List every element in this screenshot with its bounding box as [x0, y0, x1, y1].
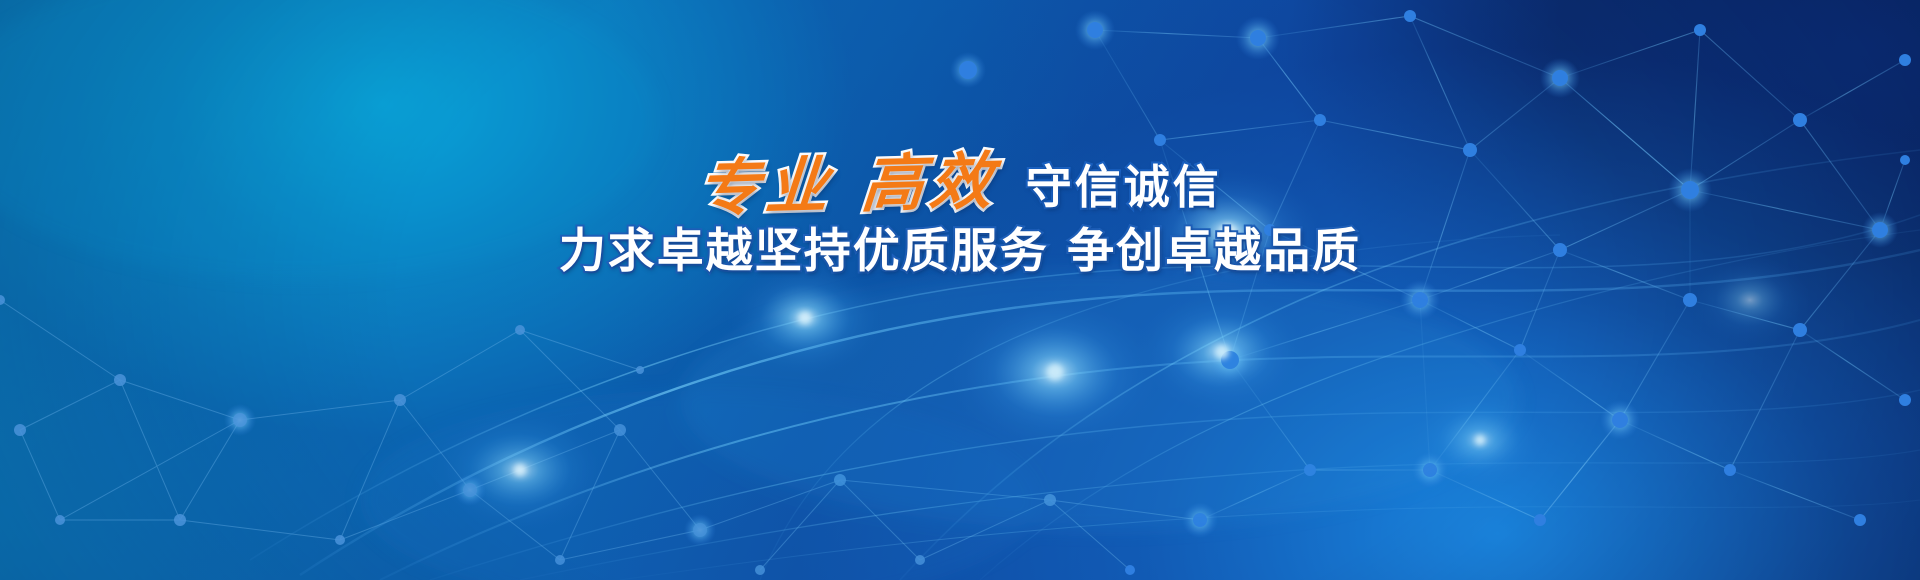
hero-banner: 专业 高效 守信诚信 力求卓越坚持优质服务 争创卓越品质 — [0, 0, 1920, 580]
background-light-wash — [0, 0, 1920, 580]
